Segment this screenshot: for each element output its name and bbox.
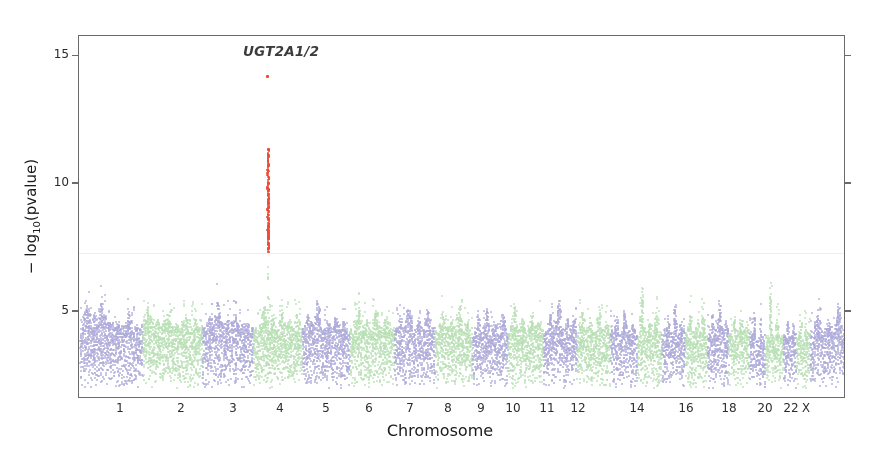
scatter-point — [117, 362, 119, 364]
scatter-point — [176, 326, 178, 328]
scatter-point — [267, 251, 270, 253]
scatter-point — [227, 314, 229, 316]
scatter-point — [136, 333, 138, 335]
scatter-point — [239, 320, 241, 322]
scatter-point — [101, 296, 103, 298]
scatter-point — [135, 342, 137, 344]
y-axis-tick-mark-right — [845, 310, 851, 312]
scatter-point — [318, 318, 320, 320]
scatter-point — [150, 336, 152, 338]
scatter-point — [291, 345, 293, 347]
scatter-point — [202, 377, 204, 379]
scatter-point — [244, 351, 246, 353]
scatter-point — [87, 357, 89, 359]
scatter-point — [307, 323, 309, 325]
scatter-point — [334, 362, 336, 364]
scatter-point — [153, 305, 155, 307]
scatter-point — [328, 387, 330, 389]
scatter-point — [290, 321, 292, 323]
scatter-point — [133, 309, 135, 311]
scatter-point — [310, 350, 312, 352]
scatter-point — [257, 353, 259, 355]
scatter-point — [268, 334, 270, 336]
scatter-point — [324, 309, 326, 311]
scatter-point — [174, 374, 176, 376]
scatter-point — [131, 320, 133, 322]
scatter-point — [281, 305, 283, 307]
scatter-point — [217, 383, 219, 385]
scatter-point — [306, 320, 308, 322]
scatter-point — [95, 384, 97, 386]
scatter-point — [298, 379, 300, 381]
scatter-point — [294, 344, 296, 346]
scatter-point — [202, 366, 204, 368]
scatter-point — [130, 341, 132, 343]
scatter-point — [310, 321, 312, 323]
scatter-point — [149, 330, 151, 332]
scatter-point — [296, 373, 298, 375]
scatter-point — [84, 333, 86, 335]
scatter-point — [102, 361, 104, 363]
scatter-point — [88, 291, 90, 293]
scatter-point — [88, 348, 90, 350]
scatter-point — [235, 317, 237, 319]
scatter-point — [267, 148, 270, 150]
scatter-point — [197, 364, 199, 366]
scatter-point — [267, 377, 269, 379]
scatter-point — [332, 356, 334, 358]
scatter-point — [191, 310, 193, 312]
scatter-point — [266, 309, 268, 311]
scatter-point — [93, 354, 95, 356]
scatter-point — [264, 342, 266, 344]
scatter-point — [88, 374, 90, 376]
scatter-point — [271, 386, 273, 388]
scatter-point — [196, 323, 198, 325]
scatter-point — [344, 362, 346, 364]
scatter-point — [349, 365, 351, 367]
scatter-point — [240, 351, 242, 353]
scatter-point — [127, 369, 129, 371]
scatter-point — [149, 375, 151, 377]
scatter-point — [261, 376, 263, 378]
scatter-point — [318, 324, 320, 326]
scatter-point — [107, 369, 109, 371]
scatter-point — [281, 299, 283, 301]
scatter-point — [114, 355, 116, 357]
scatter-point — [297, 348, 299, 350]
scatter-point — [308, 351, 310, 353]
scatter-point — [277, 378, 279, 380]
scatter-point — [131, 375, 133, 377]
scatter-point — [168, 339, 170, 341]
scatter-point — [182, 371, 184, 373]
scatter-point — [209, 332, 211, 334]
scatter-point — [253, 384, 255, 386]
scatter-point — [308, 317, 310, 319]
scatter-point — [235, 342, 237, 344]
scatter-point — [151, 386, 153, 388]
scatter-point — [266, 174, 269, 176]
scatter-point — [223, 359, 225, 361]
scatter-point — [310, 370, 312, 372]
scatter-point — [197, 383, 199, 385]
scatter-point — [88, 308, 90, 310]
scatter-point — [193, 374, 195, 376]
scatter-point — [344, 308, 346, 310]
scatter-point — [271, 305, 273, 307]
scatter-point — [181, 348, 183, 350]
scatter-point — [207, 383, 209, 385]
scatter-point — [202, 341, 204, 343]
scatter-point — [300, 350, 302, 352]
scatter-point — [110, 371, 112, 373]
scatter-point — [263, 369, 265, 371]
scatter-point — [135, 378, 137, 380]
scatter-point — [280, 321, 282, 323]
scatter-point — [278, 329, 280, 331]
scatter-point — [87, 336, 89, 338]
scatter-point — [209, 326, 211, 328]
scatter-point — [346, 328, 348, 330]
scatter-point — [163, 315, 165, 317]
scatter-point — [184, 381, 186, 383]
scatter-point — [294, 367, 296, 369]
scatter-point — [227, 300, 229, 302]
scatter-point — [249, 364, 251, 366]
scatter-point — [195, 310, 197, 312]
scatter-point — [148, 357, 150, 359]
scatter-point — [135, 364, 137, 366]
scatter-point — [273, 314, 275, 316]
scatter-point — [183, 361, 185, 363]
scatter-point — [247, 357, 249, 359]
scatter-point — [223, 304, 225, 306]
scatter-point — [281, 309, 283, 311]
scatter-point — [266, 75, 269, 78]
scatter-point — [219, 359, 221, 361]
scatter-point — [87, 351, 89, 353]
scatter-point — [287, 303, 289, 305]
scatter-point — [211, 386, 213, 388]
scatter-point — [183, 305, 185, 307]
y-axis-tick-label: 10 — [54, 175, 69, 189]
scatter-point — [123, 384, 125, 386]
scatter-point — [330, 350, 332, 352]
scatter-point — [177, 348, 179, 350]
scatter-point — [167, 327, 169, 329]
plot-area — [78, 35, 845, 398]
scatter-point — [189, 323, 191, 325]
scatter-point — [84, 302, 86, 304]
scatter-point — [151, 341, 153, 343]
scatter-point — [318, 365, 320, 367]
scatter-point — [211, 303, 213, 305]
scatter-point — [340, 384, 342, 386]
scatter-point — [241, 378, 243, 380]
scatter-point — [316, 360, 318, 362]
scatter-point — [115, 385, 117, 387]
scatter-point — [185, 339, 187, 341]
scatter-point — [131, 382, 133, 384]
scatter-point — [299, 313, 301, 315]
scatter-point — [255, 371, 257, 373]
scatter-point — [162, 377, 164, 379]
scatter-point — [293, 378, 295, 380]
scatter-point — [272, 319, 274, 321]
scatter-point — [229, 370, 231, 372]
scatter-point — [159, 363, 161, 365]
scatter-point — [284, 361, 286, 363]
scatter-point — [330, 353, 332, 355]
scatter-point — [211, 354, 213, 356]
scatter-point — [346, 322, 348, 324]
scatter-point — [201, 303, 203, 305]
scatter-point — [80, 377, 82, 379]
scatter-point — [257, 313, 259, 315]
scatter-point — [168, 330, 170, 332]
scatter-point — [96, 379, 98, 381]
scatter-point — [136, 329, 138, 331]
scatter-point — [128, 311, 130, 313]
scatter-point — [235, 314, 237, 316]
scatter-point — [316, 382, 318, 384]
scatter-point — [298, 301, 300, 303]
scatter-point — [80, 353, 82, 355]
scatter-point — [230, 378, 232, 380]
scatter-point — [205, 379, 207, 381]
scatter-point — [218, 336, 220, 338]
scatter-point — [155, 368, 157, 370]
scatter-point — [262, 351, 264, 353]
scatter-point — [302, 343, 304, 345]
scatter-point — [259, 309, 261, 311]
scatter-point — [263, 337, 265, 339]
scatter-point — [191, 314, 193, 316]
scatter-point — [88, 314, 90, 316]
scatter-point — [100, 354, 102, 356]
scatter-point — [333, 376, 335, 378]
scatter-point — [117, 348, 119, 350]
scatter-point — [193, 386, 195, 388]
scatter-point — [86, 305, 88, 307]
scatter-point — [207, 373, 209, 375]
scatter-point — [255, 379, 257, 381]
scatter-point — [305, 375, 307, 377]
scatter-point — [292, 350, 294, 352]
scatter-point — [263, 365, 265, 367]
scatter-point — [346, 377, 348, 379]
scatter-point — [319, 360, 321, 362]
scatter-point — [162, 349, 164, 351]
scatter-point — [93, 339, 95, 341]
scatter-point — [236, 354, 238, 356]
scatter-point — [108, 334, 110, 336]
scatter-point — [298, 327, 300, 329]
scatter-point — [237, 378, 239, 380]
scatter-point — [279, 383, 281, 385]
scatter-point — [249, 382, 251, 384]
scatter-point — [309, 366, 311, 368]
scatter-point — [179, 376, 181, 378]
scatter-point — [120, 346, 122, 348]
scatter-point — [290, 351, 292, 353]
scatter-point — [266, 186, 269, 188]
scatter-point — [245, 365, 247, 367]
scatter-point — [218, 308, 220, 310]
scatter-point — [209, 354, 211, 356]
scatter-point — [183, 300, 185, 302]
scatter-point — [126, 383, 128, 385]
scatter-point — [288, 359, 290, 361]
scatter-point — [162, 332, 164, 334]
scatter-point — [281, 336, 283, 338]
scatter-point — [145, 358, 147, 360]
scatter-point — [143, 366, 145, 368]
scatter-point — [324, 314, 326, 316]
scatter-point — [195, 370, 197, 372]
scatter-point — [86, 326, 88, 328]
scatter-point — [136, 324, 138, 326]
scatter-point — [195, 354, 197, 356]
scatter-point — [80, 370, 82, 372]
scatter-point — [219, 379, 221, 381]
scatter-point — [186, 333, 188, 335]
scatter-point — [93, 321, 95, 323]
scatter-point — [145, 355, 147, 357]
scatter-point — [299, 324, 301, 326]
scatter-point — [250, 340, 252, 342]
scatter-point — [248, 346, 250, 348]
scatter-point — [194, 328, 196, 330]
scatter-point — [275, 317, 277, 319]
scatter-point — [221, 340, 223, 342]
scatter-point — [131, 314, 133, 316]
scatter-point — [267, 266, 269, 268]
scatter-point — [108, 328, 110, 330]
scatter-point — [167, 318, 169, 320]
scatter-point — [162, 379, 164, 381]
scatter-point — [211, 318, 213, 320]
scatter-point — [296, 354, 298, 356]
scatter-point — [239, 309, 241, 311]
scatter-point — [127, 308, 129, 310]
scatter-point — [88, 339, 90, 341]
scatter-point — [103, 378, 105, 380]
scatter-point — [152, 364, 154, 366]
scatter-point — [173, 357, 175, 359]
scatter-point — [267, 276, 269, 278]
scatter-point — [217, 363, 219, 365]
scatter-point — [126, 376, 128, 378]
scatter-point — [145, 382, 147, 384]
scatter-point — [267, 324, 269, 326]
scatter-point — [261, 371, 263, 373]
scatter-point — [102, 369, 104, 371]
scatter-point — [147, 321, 149, 323]
scatter-point — [176, 387, 178, 389]
scatter-point — [278, 368, 280, 370]
scatter-point — [284, 377, 286, 379]
scatter-point — [80, 355, 82, 357]
scatter-point — [348, 384, 350, 386]
scatter-point — [107, 351, 109, 353]
scatter-point — [307, 342, 309, 344]
scatter-point — [81, 384, 83, 386]
scatter-point — [84, 370, 86, 372]
scatter-point — [286, 334, 288, 336]
scatter-point — [96, 319, 98, 321]
scatter-point — [211, 350, 213, 352]
scatter-point — [218, 305, 220, 307]
scatter-point — [180, 381, 182, 383]
scatter-point — [225, 368, 227, 370]
scatter-point — [247, 309, 249, 311]
scatter-point — [173, 354, 175, 356]
scatter-point — [296, 370, 298, 372]
scatter-point — [212, 341, 214, 343]
scatter-point — [136, 348, 138, 350]
scatter-point — [347, 362, 349, 364]
scatter-point — [189, 354, 191, 356]
scatter-point — [277, 358, 279, 360]
scatter-point — [87, 382, 89, 384]
scatter-point — [191, 305, 193, 307]
scatter-point — [236, 323, 238, 325]
scatter-point — [148, 342, 150, 344]
scatter-point — [165, 335, 167, 337]
scatter-point — [267, 337, 269, 339]
scatter-point — [104, 300, 106, 302]
scatter-point — [199, 368, 201, 370]
scatter-point — [133, 335, 135, 337]
scatter-point — [136, 327, 138, 329]
scatter-point — [296, 314, 298, 316]
scatter-point — [290, 327, 292, 329]
scatter-point — [205, 313, 207, 315]
scatter-point — [157, 366, 159, 368]
y-axis-tick-mark-right — [845, 182, 851, 184]
scatter-point — [307, 371, 309, 373]
scatter-point — [267, 321, 269, 323]
scatter-point — [296, 316, 298, 318]
scatter-point — [159, 359, 161, 361]
scatter-point — [191, 369, 193, 371]
scatter-point — [305, 345, 307, 347]
scatter-point — [173, 307, 175, 309]
scatter-point — [149, 369, 151, 371]
scatter-point — [263, 327, 265, 329]
scatter-point — [275, 326, 277, 328]
scatter-point — [308, 348, 310, 350]
scatter-point — [162, 360, 164, 362]
scatter-point — [319, 309, 321, 311]
scatter-point — [231, 352, 233, 354]
scatter-point — [295, 303, 297, 305]
scatter-point — [186, 351, 188, 353]
scatter-point — [186, 341, 188, 343]
scatter-point — [106, 383, 108, 385]
scatter-point — [185, 317, 187, 319]
scatter-point — [171, 372, 173, 374]
scatter-point — [217, 376, 219, 378]
scatter-point — [281, 372, 283, 374]
scatter-point — [169, 303, 171, 305]
scatter-point — [341, 367, 343, 369]
scatter-point — [327, 370, 329, 372]
scatter-point — [220, 382, 222, 384]
scatter-point — [82, 335, 84, 337]
